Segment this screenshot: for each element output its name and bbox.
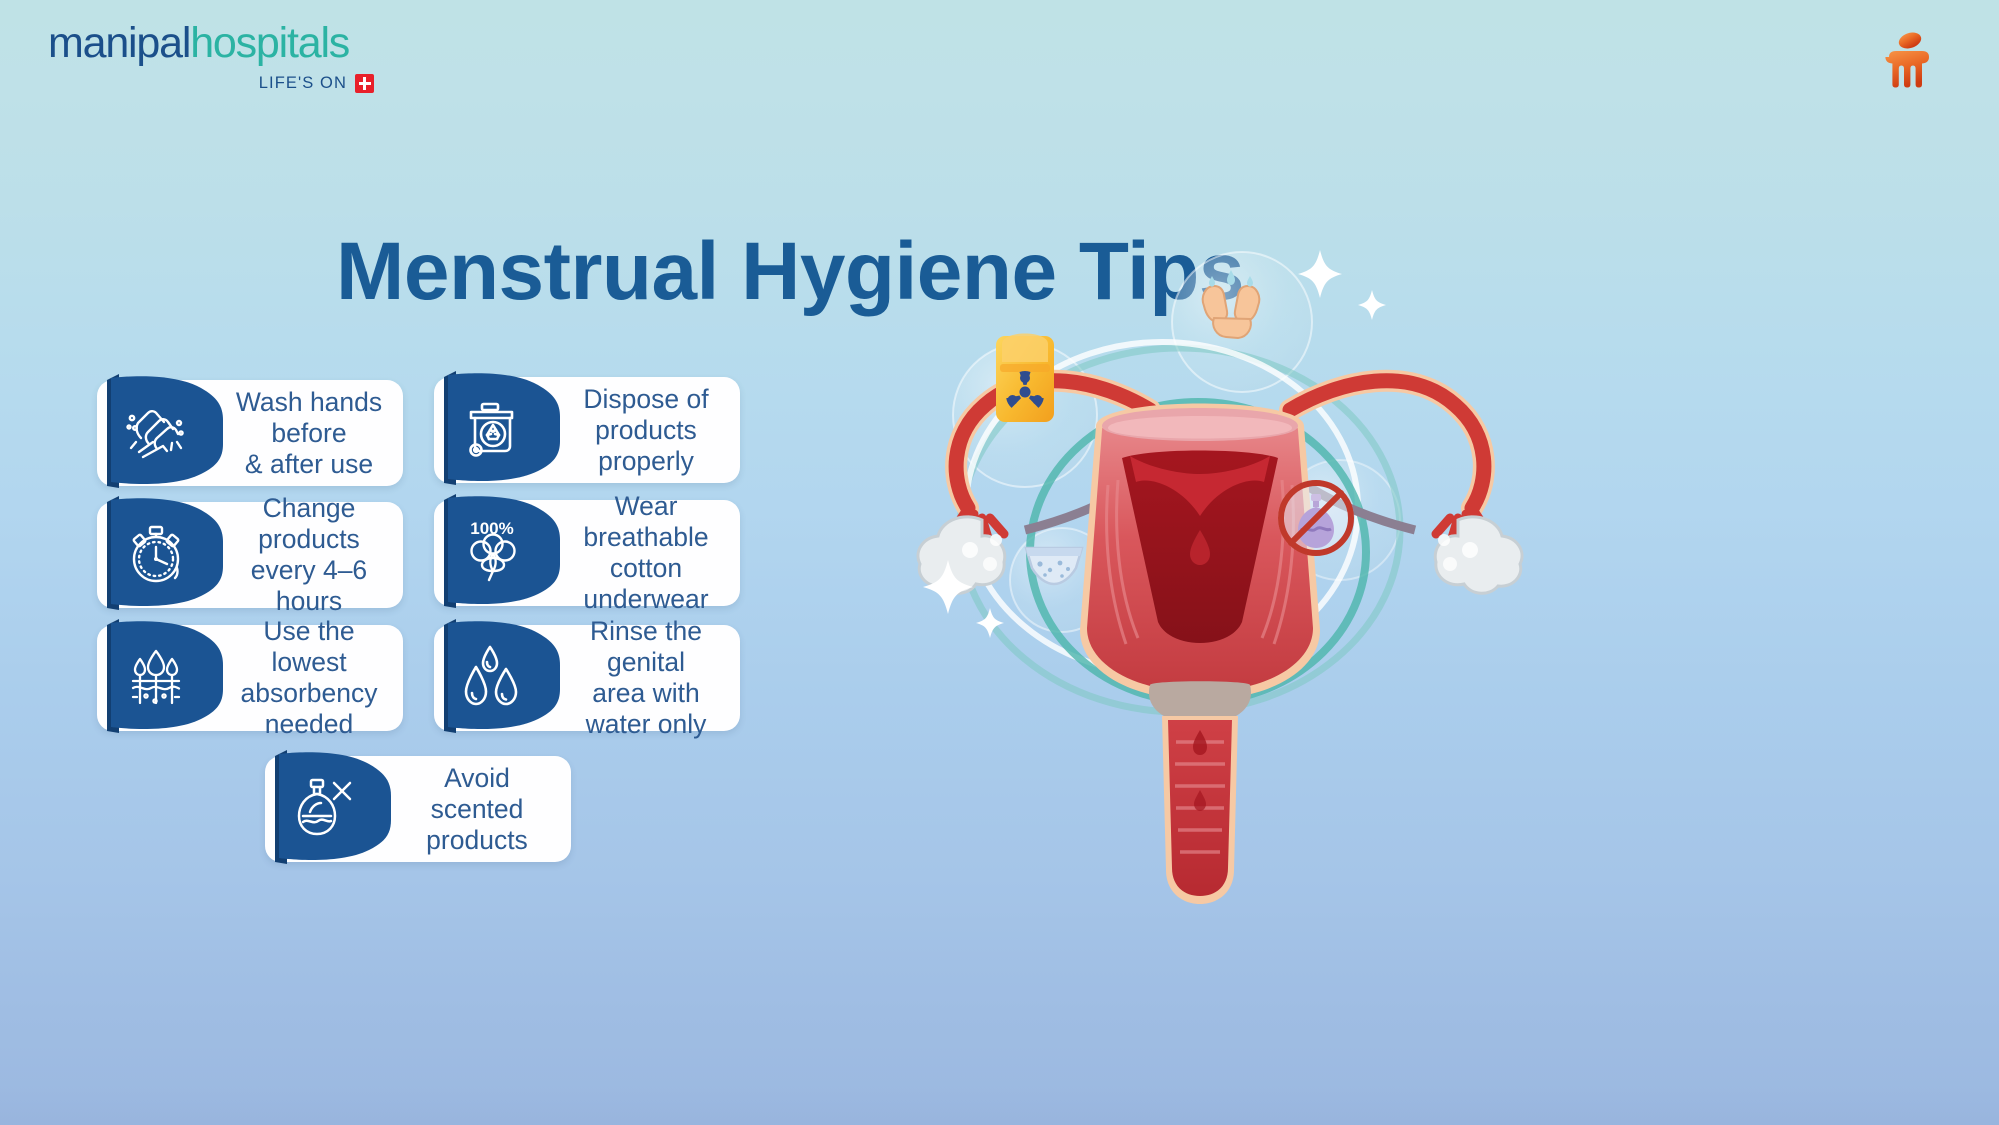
no-perfume-bottle-icon	[287, 770, 361, 844]
tip-text-line2: absorbency needed	[240, 678, 377, 739]
tip-text: Avoid scented products	[397, 763, 557, 856]
tips-list: Wash hands before & after use	[0, 380, 960, 1000]
red-cross-icon	[355, 74, 374, 93]
tip-badge	[434, 363, 566, 491]
tip-text-line1: Avoid scented	[431, 763, 524, 824]
tip-badge: 100%	[434, 486, 566, 614]
bottom-gradient-band	[0, 1085, 1999, 1125]
tip-text: Rinse the genital area with water only	[566, 616, 726, 740]
tip-text: Dispose of products properly	[566, 384, 726, 477]
tip-card[interactable]: Avoid scented products	[265, 756, 571, 862]
tip-card[interactable]: 100% Wear breathable cotton underwear	[434, 500, 740, 606]
tip-text-line2: & after use	[245, 449, 373, 479]
water-drops-icon	[456, 639, 530, 713]
page-header: manipalhospitals LIFE'S ON	[0, 0, 1999, 120]
tip-badge	[434, 611, 566, 739]
tip-card[interactable]: Rinse the genital area with water only	[434, 625, 740, 731]
tip-text-line1: Use the lowest	[263, 616, 354, 677]
tip-text: Wash hands before & after use	[229, 387, 389, 480]
tip-text-line1: Change products	[258, 493, 360, 554]
tip-badge	[265, 742, 397, 870]
tip-text-line2: every 4–6 hours	[251, 555, 367, 616]
stopwatch-icon	[119, 516, 193, 590]
tip-text: Change products every 4–6 hours	[229, 493, 389, 617]
tip-card[interactable]: Change products every 4–6 hours	[97, 502, 403, 608]
absorbency-drops-icon	[119, 639, 193, 713]
no-perfume-bottle-badge	[1278, 480, 1354, 556]
biohazard-disposal-bin	[996, 334, 1054, 423]
cotton-flower-icon: 100%	[456, 514, 530, 588]
tip-text-line1: Wash hands before	[236, 387, 382, 448]
tip-card[interactable]: Wash hands before & after use	[97, 380, 403, 486]
orange-figure-mark-icon[interactable]	[1877, 28, 1939, 90]
tip-card[interactable]: Dispose of products properly	[434, 377, 740, 483]
tip-text-line1: Rinse the genital	[590, 616, 702, 677]
tip-text-line1: Dispose of	[583, 384, 708, 414]
tip-text-line1: Wear breathable	[583, 491, 708, 552]
tip-badge	[97, 488, 229, 616]
tip-badge	[97, 366, 229, 494]
tip-text-line2: cotton underwear	[583, 553, 708, 614]
logo-tagline: LIFE'S ON	[259, 74, 347, 93]
tip-text-line2: products	[426, 825, 528, 855]
uterus-cross-section	[1080, 404, 1320, 701]
tip-text-line2: area with water only	[586, 678, 707, 739]
recycling-bin-icon	[456, 391, 530, 465]
washing-hands-icon	[119, 394, 193, 468]
logo-word-primary: manipal	[48, 19, 190, 67]
logo-wordmark: manipalhospitals	[48, 22, 378, 65]
cervix-and-vaginal-canal	[1149, 681, 1251, 904]
tip-badge	[97, 611, 229, 739]
tip-text: Wear breathable cotton underwear	[566, 491, 726, 615]
logo-tagline-row: LIFE'S ON	[48, 74, 378, 93]
logo-word-secondary: hospitals	[190, 19, 349, 67]
brand-logo[interactable]: manipalhospitals LIFE'S ON	[48, 22, 378, 93]
tip-text: Use the lowest absorbency needed	[229, 616, 389, 740]
tip-card[interactable]: Use the lowest absorbency needed	[97, 625, 403, 731]
tip-text-line2: products properly	[595, 415, 697, 476]
uterus-anatomy-hygiene-illustration	[850, 230, 1550, 910]
